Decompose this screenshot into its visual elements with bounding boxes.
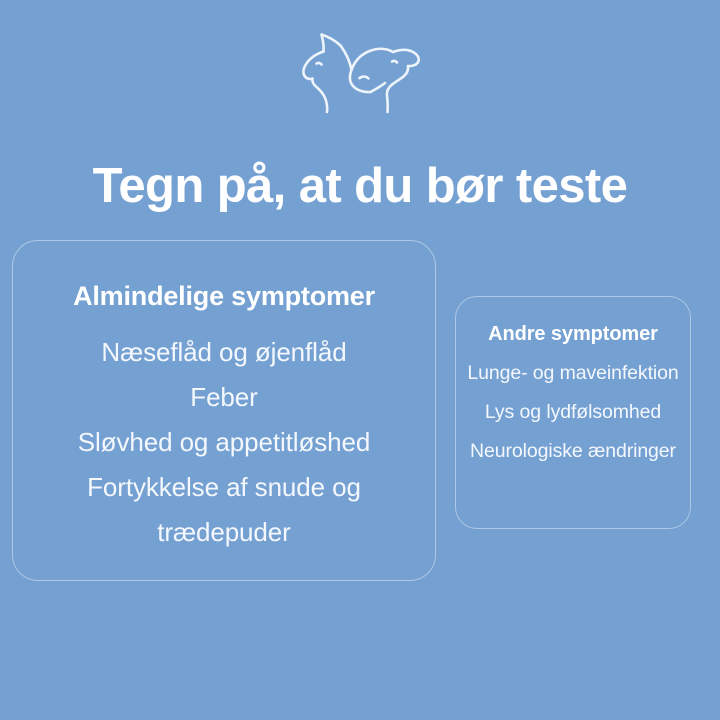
card-title-almindelige-symptomer: Almindelige symptomer: [27, 279, 421, 313]
list-item: Lys og lydfølsomhed: [466, 399, 680, 425]
list-item: Fortykkelse af snude og trædepuder: [27, 465, 421, 555]
list-item: Neurologiske ændringer: [466, 438, 680, 464]
page-title: Tegn på, at du bør teste: [0, 155, 720, 217]
symptom-list-almindelige: Næseflåd og øjenflåd Feber Sløvhed og ap…: [27, 330, 421, 555]
poster-root: Tegn på, at du bør teste Almindelige sym…: [0, 0, 720, 720]
card-andre-symptomer: Andre symptomer Lunge- og maveinfektion …: [455, 296, 691, 529]
card-title-andre-symptomer: Andre symptomer: [466, 321, 680, 347]
cat-and-dog-heads-logo: [0, 24, 720, 116]
list-item: Sløvhed og appetitløshed: [27, 420, 421, 465]
symptom-list-andre: Lunge- og maveinfektion Lys og lydfølsom…: [466, 360, 680, 464]
card-almindelige-symptomer: Almindelige symptomer Næseflåd og øjenfl…: [12, 240, 436, 581]
list-item: Feber: [27, 375, 421, 420]
list-item: Næseflåd og øjenflåd: [27, 330, 421, 375]
list-item: Lunge- og maveinfektion: [466, 360, 680, 386]
cat-and-dog-heads-icon: [296, 26, 424, 114]
